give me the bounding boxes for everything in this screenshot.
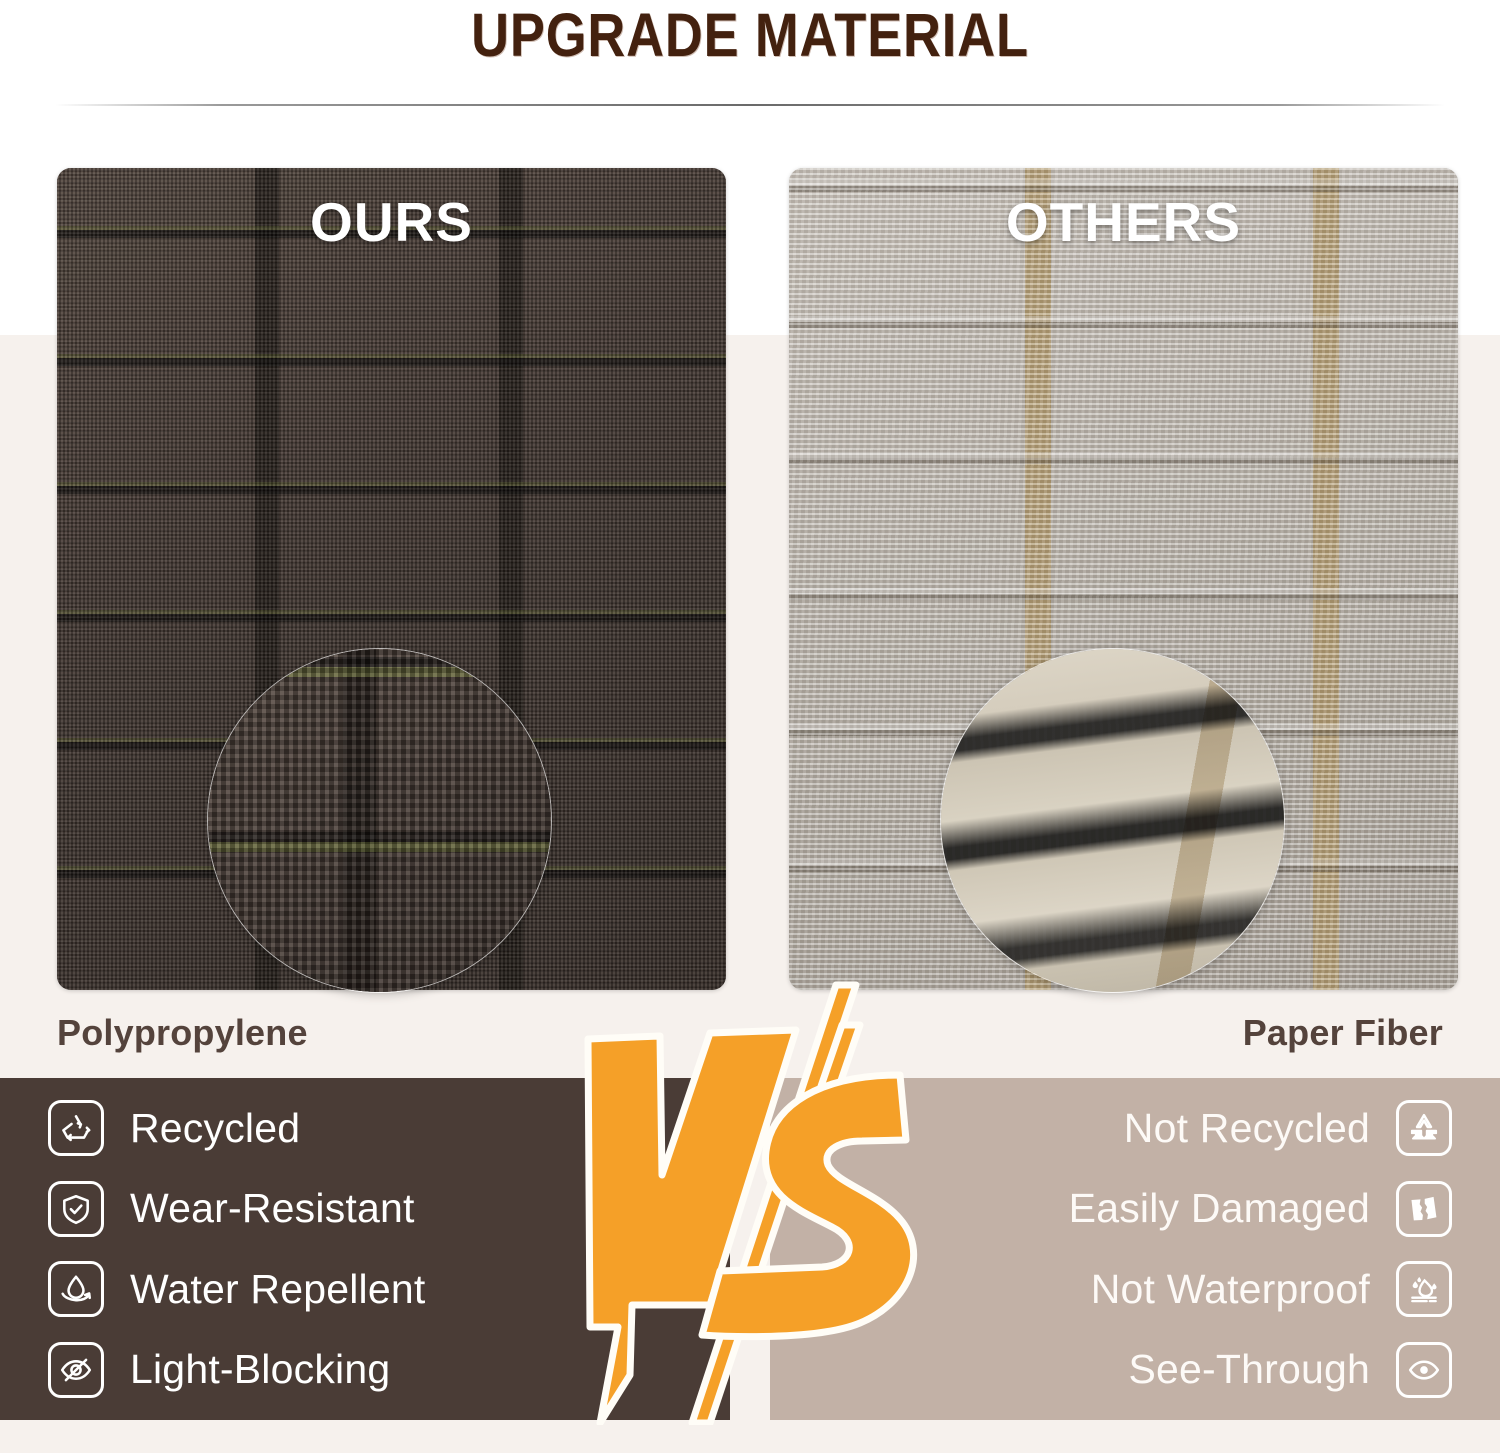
- feature-row: Wear-Resistant: [48, 1178, 415, 1240]
- feature-row: Water Repellent: [48, 1258, 425, 1320]
- feature-label: Water Repellent: [130, 1266, 425, 1313]
- feature-label: Easily Damaged: [1069, 1185, 1370, 1232]
- feature-label: Not Recycled: [1124, 1105, 1370, 1152]
- ours-magnifier-circle: [207, 648, 552, 993]
- ours-feature-bar: Recycled Wear-Resistant: [0, 1078, 730, 1420]
- ours-magnified-texture: [208, 649, 551, 992]
- others-feature-list: Not Recycled Easily Damaged: [770, 1088, 1452, 1410]
- others-magnified-texture: [941, 649, 1284, 992]
- shield-check-icon: [48, 1181, 104, 1237]
- others-photo-caption: OTHERS: [789, 190, 1458, 254]
- water-repellent-icon: [48, 1261, 104, 1317]
- feature-label: Not Waterproof: [1091, 1266, 1370, 1313]
- feature-row: See-Through: [1128, 1339, 1452, 1401]
- others-feature-bar: Not Recycled Easily Damaged: [770, 1078, 1500, 1420]
- recycle-icon: [48, 1100, 104, 1156]
- torn-paper-icon: [1396, 1181, 1452, 1237]
- feature-label: Recycled: [130, 1105, 300, 1152]
- ours-material-label: Polypropylene: [57, 1012, 308, 1054]
- feature-row: Not Recycled: [1124, 1097, 1452, 1159]
- feature-label: See-Through: [1128, 1346, 1370, 1393]
- feature-row: Not Waterproof: [1091, 1258, 1452, 1320]
- eye-open-icon: [1396, 1342, 1452, 1398]
- title-divider: [55, 104, 1445, 106]
- ours-photo-caption: OURS: [57, 190, 726, 254]
- center-divider-gap: [730, 1078, 770, 1420]
- others-material-label: Paper Fiber: [1243, 1012, 1443, 1054]
- infographic-root: UPGRADE MATERIAL OURS OTHERS Polypropyle…: [0, 0, 1500, 1453]
- others-magnifier-circle: [940, 648, 1285, 993]
- feature-row: Easily Damaged: [1069, 1178, 1452, 1240]
- feature-row: Light-Blocking: [48, 1339, 390, 1401]
- water-splash-icon: [1396, 1261, 1452, 1317]
- eye-slash-icon: [48, 1342, 104, 1398]
- feature-row: Recycled: [48, 1097, 300, 1159]
- ours-feature-list: Recycled Wear-Resistant: [48, 1088, 730, 1410]
- feature-label: Wear-Resistant: [130, 1185, 415, 1232]
- feature-label: Light-Blocking: [130, 1346, 390, 1393]
- broken-recycle-icon: [1396, 1100, 1452, 1156]
- page-title: UPGRADE MATERIAL: [105, 2, 1395, 68]
